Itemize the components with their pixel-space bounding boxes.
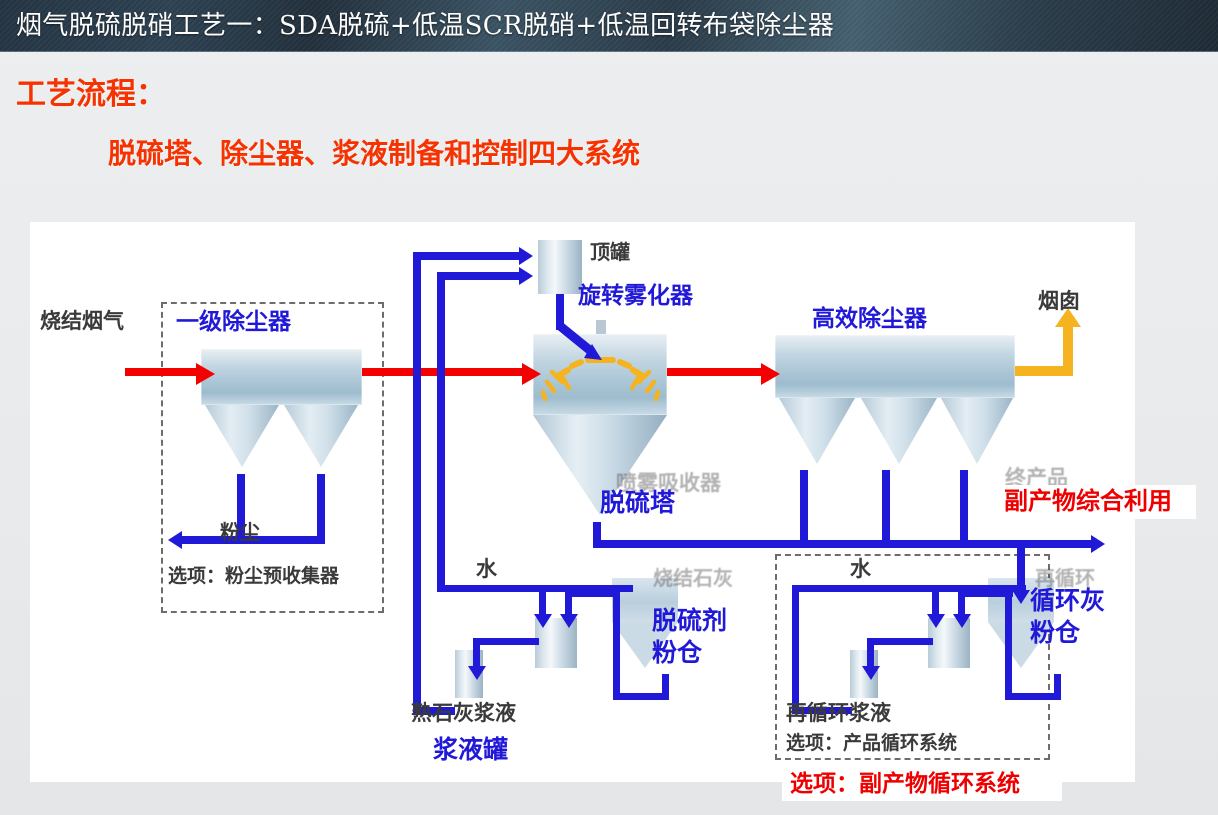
primary-dust-collector-hoppers xyxy=(201,405,362,471)
slide-title: 烟气脱硫脱硝工艺一：SDA脱硫+低温SCR脱硝+低温回转布袋除尘器 xyxy=(16,13,834,39)
slurry-feed-top-horizontal xyxy=(413,252,523,260)
collector-hopper-drop-3 xyxy=(960,470,968,542)
label-option-dust-precollector: 选项：粉尘预收集器 xyxy=(168,567,339,587)
water-drop-arrow-left-b xyxy=(560,614,578,628)
label-option-byproduct-recycle: 选项：副产物循环系统 xyxy=(790,772,1020,796)
label-rotary-atomizer: 旋转雾化器 xyxy=(578,284,693,308)
ash-silo-feed-arrow xyxy=(1012,590,1030,604)
flue-gas-arrow-tower xyxy=(522,363,541,385)
silo-feed-bottom-left xyxy=(613,693,669,700)
flue-gas-line-mid xyxy=(362,368,530,376)
title-bar: 烟气脱硫脱硝工艺一：SDA脱硫+低温SCR脱硝+低温回转布袋除尘器 xyxy=(0,0,1218,52)
label-recycled-slurry: 再循环浆液 xyxy=(786,702,891,724)
label-primary-dust-collector: 一级除尘器 xyxy=(176,310,291,334)
label-desulfurizer-silo-line2: 粉仓 xyxy=(652,640,702,666)
high-efficiency-collector-hoppers xyxy=(775,398,1015,470)
atomizer-feed-arrow xyxy=(550,322,610,368)
silo-feed-riser-left xyxy=(662,674,669,700)
slurry-transfer-horizontal xyxy=(473,638,539,645)
label-circulating-ash-silo-line2: 粉仓 xyxy=(1030,620,1080,646)
byproduct-header-arrow xyxy=(1091,535,1105,553)
label-sinter-flue-gas: 烧结烟气 xyxy=(40,310,124,332)
water-drop-arrow-right-b xyxy=(953,614,971,628)
slurry-transfer-arrow xyxy=(468,666,486,680)
high-efficiency-collector-body xyxy=(775,335,1015,398)
ash-silo-feed-vertical-right xyxy=(1005,590,1012,700)
slurry-feed-arrow-top xyxy=(519,247,533,265)
label-dust: 粉尘 xyxy=(220,522,260,543)
flue-gas-arrow-collector xyxy=(761,363,780,385)
primary-dust-collector-body xyxy=(201,349,362,405)
label-desulfurizer-silo-line1: 脱硫剂 xyxy=(652,608,727,634)
recycle-return-vertical xyxy=(792,585,799,714)
stack-gas-line-vertical xyxy=(1063,325,1073,376)
water-feed-arrow-top xyxy=(519,267,533,285)
label-water-right: 水 xyxy=(850,558,871,580)
water-drop-arrow-left-a xyxy=(534,614,552,628)
label-water-left: 水 xyxy=(476,558,497,580)
label-byproduct-utilization: 副产物综合利用 xyxy=(1004,489,1172,514)
silo-feed-vertical-left xyxy=(613,590,620,700)
label-desulfurization-tower: 脱硫塔 xyxy=(600,490,675,516)
flue-gas-line-inlet xyxy=(125,368,200,376)
flue-gas-arrow-inlet xyxy=(196,363,215,385)
slurry-feed-riser xyxy=(413,252,421,715)
collector-hopper-drop-2 xyxy=(882,470,890,542)
recycled-slurry-transfer-arrow xyxy=(862,666,880,680)
dust-out-arrow xyxy=(168,531,182,549)
water-feed-top-horizontal xyxy=(437,272,523,280)
dust-drop-line-2 xyxy=(317,474,325,544)
label-slurry-tank: 浆液罐 xyxy=(433,737,508,763)
label-top-tank: 顶罐 xyxy=(590,242,630,263)
label-slaked-lime-slurry: 熟石灰浆液 xyxy=(411,702,516,724)
ash-silo-feed-riser-right xyxy=(1054,674,1061,700)
process-flow-diagram: 喷雾吸收器 终产品 烧结石灰 再循环 烧结烟气 一级除尘器 粉尘 选项：粉尘预收… xyxy=(30,222,1135,782)
section-heading-primary: 工艺流程： xyxy=(16,80,166,110)
ghost-label-sintered-lime: 烧结石灰 xyxy=(653,562,733,591)
label-chimney: 烟囱 xyxy=(1038,290,1080,312)
water-feed-riser xyxy=(437,272,445,585)
water-drop-arrow-right-a xyxy=(927,614,945,628)
label-high-efficiency-collector: 高效除尘器 xyxy=(812,307,927,331)
label-option-product-recycle: 选项：产品循环系统 xyxy=(786,734,957,754)
top-tank-cylinder xyxy=(538,240,582,294)
collector-hopper-drop-1 xyxy=(800,470,808,542)
ash-silo-feed-bottom-right xyxy=(1005,693,1061,700)
section-heading-secondary: 脱硫塔、除尘器、浆液制备和控制四大系统 xyxy=(108,140,640,168)
recycled-slurry-transfer-horizontal xyxy=(867,638,933,645)
label-circulating-ash-silo-line1: 循环灰 xyxy=(1030,588,1105,614)
flue-gas-line-outlet xyxy=(667,368,767,376)
